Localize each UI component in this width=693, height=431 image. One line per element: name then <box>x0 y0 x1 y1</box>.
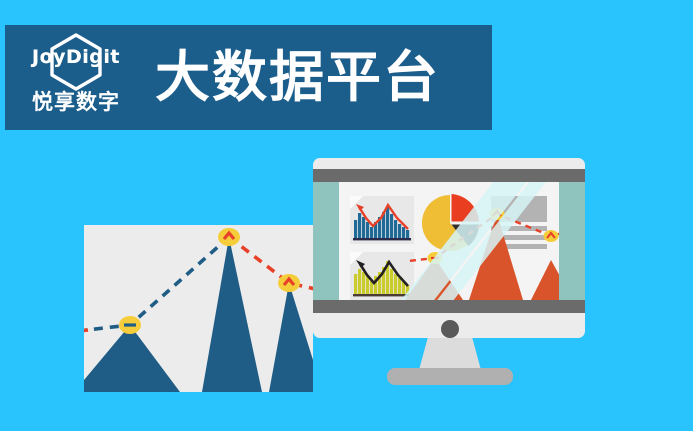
red-dashed-trend <box>405 214 559 262</box>
header-banner: JoyDigit 悦享数字 大数据平台 <box>5 25 492 130</box>
page-fold-icon <box>350 196 364 210</box>
dashed-trend-right <box>229 237 313 291</box>
monitor-power-button[interactable] <box>441 320 459 338</box>
dashed-trend-tail <box>84 330 88 331</box>
monitor-stand-base <box>387 368 513 385</box>
poster-canvas: JoyDigit 悦享数字 大数据平台 <box>0 0 693 431</box>
monitor-display <box>313 158 585 338</box>
mountain-shape <box>84 237 313 392</box>
axis-line <box>353 294 411 296</box>
dashed-trend-left <box>84 237 229 331</box>
left-panel-mountain-chart <box>84 225 313 392</box>
brand-logo: JoyDigit 悦享数字 <box>17 28 135 128</box>
mountain-analytics-panel <box>84 225 313 392</box>
axis-line <box>353 238 411 240</box>
page-title: 大数据平台 <box>155 50 440 105</box>
logo-wordmark: JoyDigit <box>17 46 135 68</box>
monitor-screen <box>313 182 585 300</box>
logo-subtitle: 悦享数字 <box>17 86 135 116</box>
screen-mountain-chart <box>405 198 559 300</box>
monitor-stand-neck <box>419 338 481 370</box>
page-fold-icon <box>350 252 364 266</box>
monitor-bezel-bottom <box>313 300 585 313</box>
monitor-bezel-top <box>313 169 585 182</box>
dashboard-viewport <box>339 182 559 300</box>
